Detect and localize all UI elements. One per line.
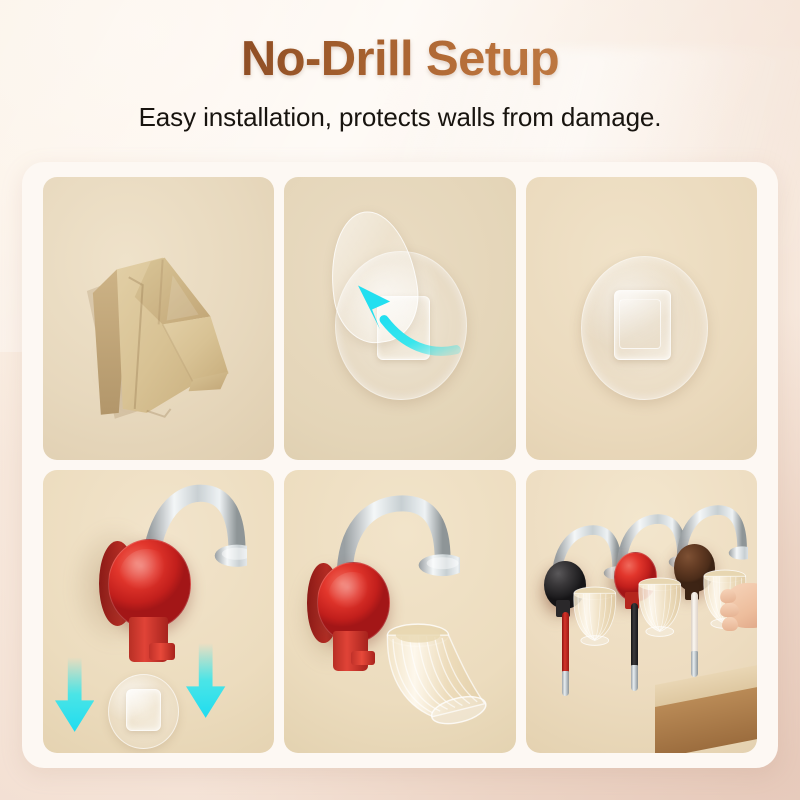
arrow-down-icon-left xyxy=(55,654,94,739)
panel-finished-row[interactable] xyxy=(526,470,757,753)
ribbed-glass-tumbler xyxy=(381,609,501,739)
counter-corner xyxy=(655,685,757,753)
ribbed-glass-left xyxy=(567,578,623,657)
adhesive-inner-square xyxy=(619,299,660,349)
panel-hang-cup[interactable] xyxy=(284,470,515,753)
finger-3 xyxy=(722,617,738,631)
hook-tip xyxy=(149,643,174,660)
cleaning-cloth-illustration xyxy=(43,177,274,460)
hook-tip xyxy=(351,651,374,665)
page-subtitle: Easy installation, protects walls from d… xyxy=(0,86,800,133)
hook-face-highlight xyxy=(328,572,377,623)
panel-clean-wall[interactable] xyxy=(43,177,274,460)
panel-peel-film[interactable] xyxy=(284,177,515,460)
panel-stick-pad[interactable] xyxy=(526,177,757,460)
toothbrush-head-middle xyxy=(631,665,638,690)
toothbrush-head-left xyxy=(562,671,569,696)
page-title: No-Drill Setup xyxy=(0,0,800,86)
toothbrush-head-right xyxy=(691,651,698,676)
adhesive-pad-square xyxy=(126,689,160,731)
hook-face-highlight xyxy=(119,549,175,606)
ribbed-glass-middle xyxy=(632,569,688,648)
finger-2 xyxy=(719,602,738,617)
gallery-grid xyxy=(43,177,757,753)
peel-direction-arrow-icon xyxy=(344,268,464,381)
page-root: No-Drill Setup Easy installation, protec… xyxy=(0,0,800,800)
panel-attach-hook[interactable] xyxy=(43,470,274,753)
header: No-Drill Setup Easy installation, protec… xyxy=(0,0,800,133)
arrow-down-icon-right xyxy=(186,640,225,725)
